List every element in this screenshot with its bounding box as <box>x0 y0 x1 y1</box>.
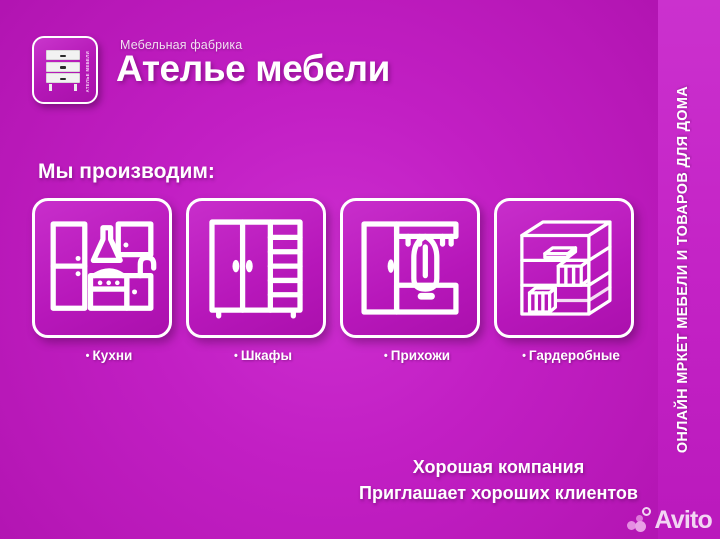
product-label-list: •Кухни •Шкафы •Прихожи •Гардеробные <box>32 348 648 363</box>
logo-vertical-microtext: АТЕЛЬЕ МЕБЕЛИ <box>82 42 93 102</box>
avito-logo-icon <box>627 507 653 533</box>
logo-microtext-label: АТЕЛЬЕ МЕБЕЛИ <box>85 51 90 92</box>
wardrobe-icon <box>189 201 323 335</box>
sidebar-strip: ОНЛАЙН МРКЕТ МЕБЕЛИ И ТОВАРОВ ДЛЯ ДОМА <box>658 0 720 539</box>
advertisement-banner: АТЕЛЬЕ МЕБЕЛИ Мебельная фабрика Ателье м… <box>0 0 720 539</box>
product-card-list <box>32 198 634 338</box>
product-label-dressing-room-text: Гардеробные <box>529 348 620 363</box>
product-label-dressing-room: •Гардеробные <box>494 348 648 363</box>
product-card-hallway[interactable] <box>340 198 480 338</box>
product-label-wardrobe: •Шкафы <box>186 348 340 363</box>
company-title: Ателье мебели <box>116 50 390 89</box>
bullet-icon: • <box>86 350 90 362</box>
banner-header: АТЕЛЬЕ МЕБЕЛИ Мебельная фабрика Ателье м… <box>32 36 390 104</box>
dresser-icon <box>46 50 80 94</box>
company-logo-badge: АТЕЛЬЕ МЕБЕЛИ <box>32 36 98 104</box>
product-card-kitchen[interactable] <box>32 198 172 338</box>
hallway-icon <box>343 201 477 335</box>
tagline-line-1: Хорошая компания <box>359 455 638 481</box>
kitchen-icon <box>35 201 169 335</box>
avito-wordmark: Avito <box>654 508 712 533</box>
product-label-hallway-text: Прихожи <box>391 348 450 363</box>
product-label-kitchen-text: Кухни <box>92 348 132 363</box>
product-label-kitchen: •Кухни <box>32 348 186 363</box>
product-card-dressing-room[interactable] <box>494 198 634 338</box>
tagline-line-2: Приглашает хороших клиентов <box>359 481 638 507</box>
section-heading: Мы производим: <box>38 160 215 184</box>
product-card-wardrobe[interactable] <box>186 198 326 338</box>
bullet-icon: • <box>234 350 238 362</box>
dressing-room-icon <box>497 201 631 335</box>
sidebar-vertical-text: ОНЛАЙН МРКЕТ МЕБЕЛИ И ТОВАРОВ ДЛЯ ДОМА <box>675 86 691 453</box>
avito-watermark: Avito <box>627 507 712 533</box>
product-label-hallway: •Прихожи <box>340 348 494 363</box>
bullet-icon: • <box>522 350 526 362</box>
bullet-icon: • <box>384 350 388 362</box>
tagline: Хорошая компания Приглашает хороших клие… <box>359 455 638 506</box>
title-block: Мебельная фабрика Ателье мебели <box>116 36 390 89</box>
product-label-wardrobe-text: Шкафы <box>241 348 292 363</box>
